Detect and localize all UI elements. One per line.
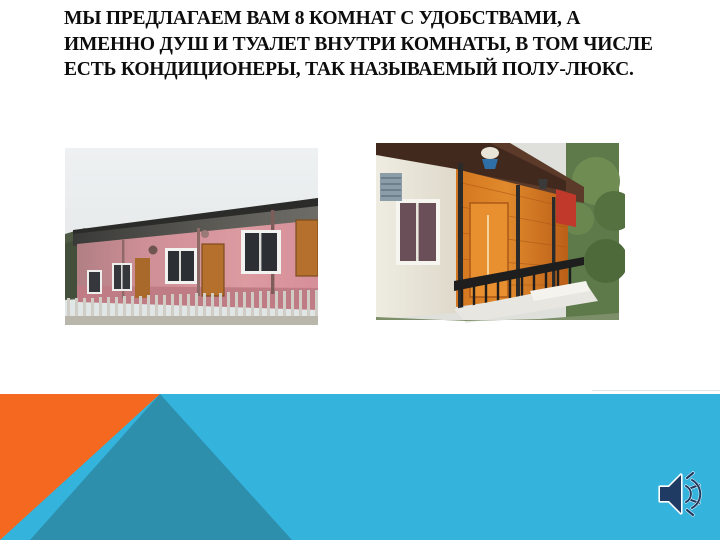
- slide-canvas: МЫ ПРЕДЛАГАЕМ ВАМ 8 КОМНАТ С УДОБСТВАМИ,…: [0, 0, 720, 540]
- orange-guesthouse-illustration: [370, 141, 625, 332]
- photo-orange-guesthouse-balcony[interactable]: [370, 141, 625, 332]
- slide-body-text: МЫ ПРЕДЛАГАЕМ ВАМ 8 КОМНАТ С УДОБСТВАМИ,…: [64, 6, 664, 83]
- divider-rule: [592, 390, 720, 391]
- speaker-icon[interactable]: [656, 466, 708, 522]
- photo-pink-guesthouse-exterior[interactable]: [65, 148, 318, 325]
- pink-guesthouse-illustration: [65, 148, 318, 325]
- footer-decoration-band: [0, 394, 720, 540]
